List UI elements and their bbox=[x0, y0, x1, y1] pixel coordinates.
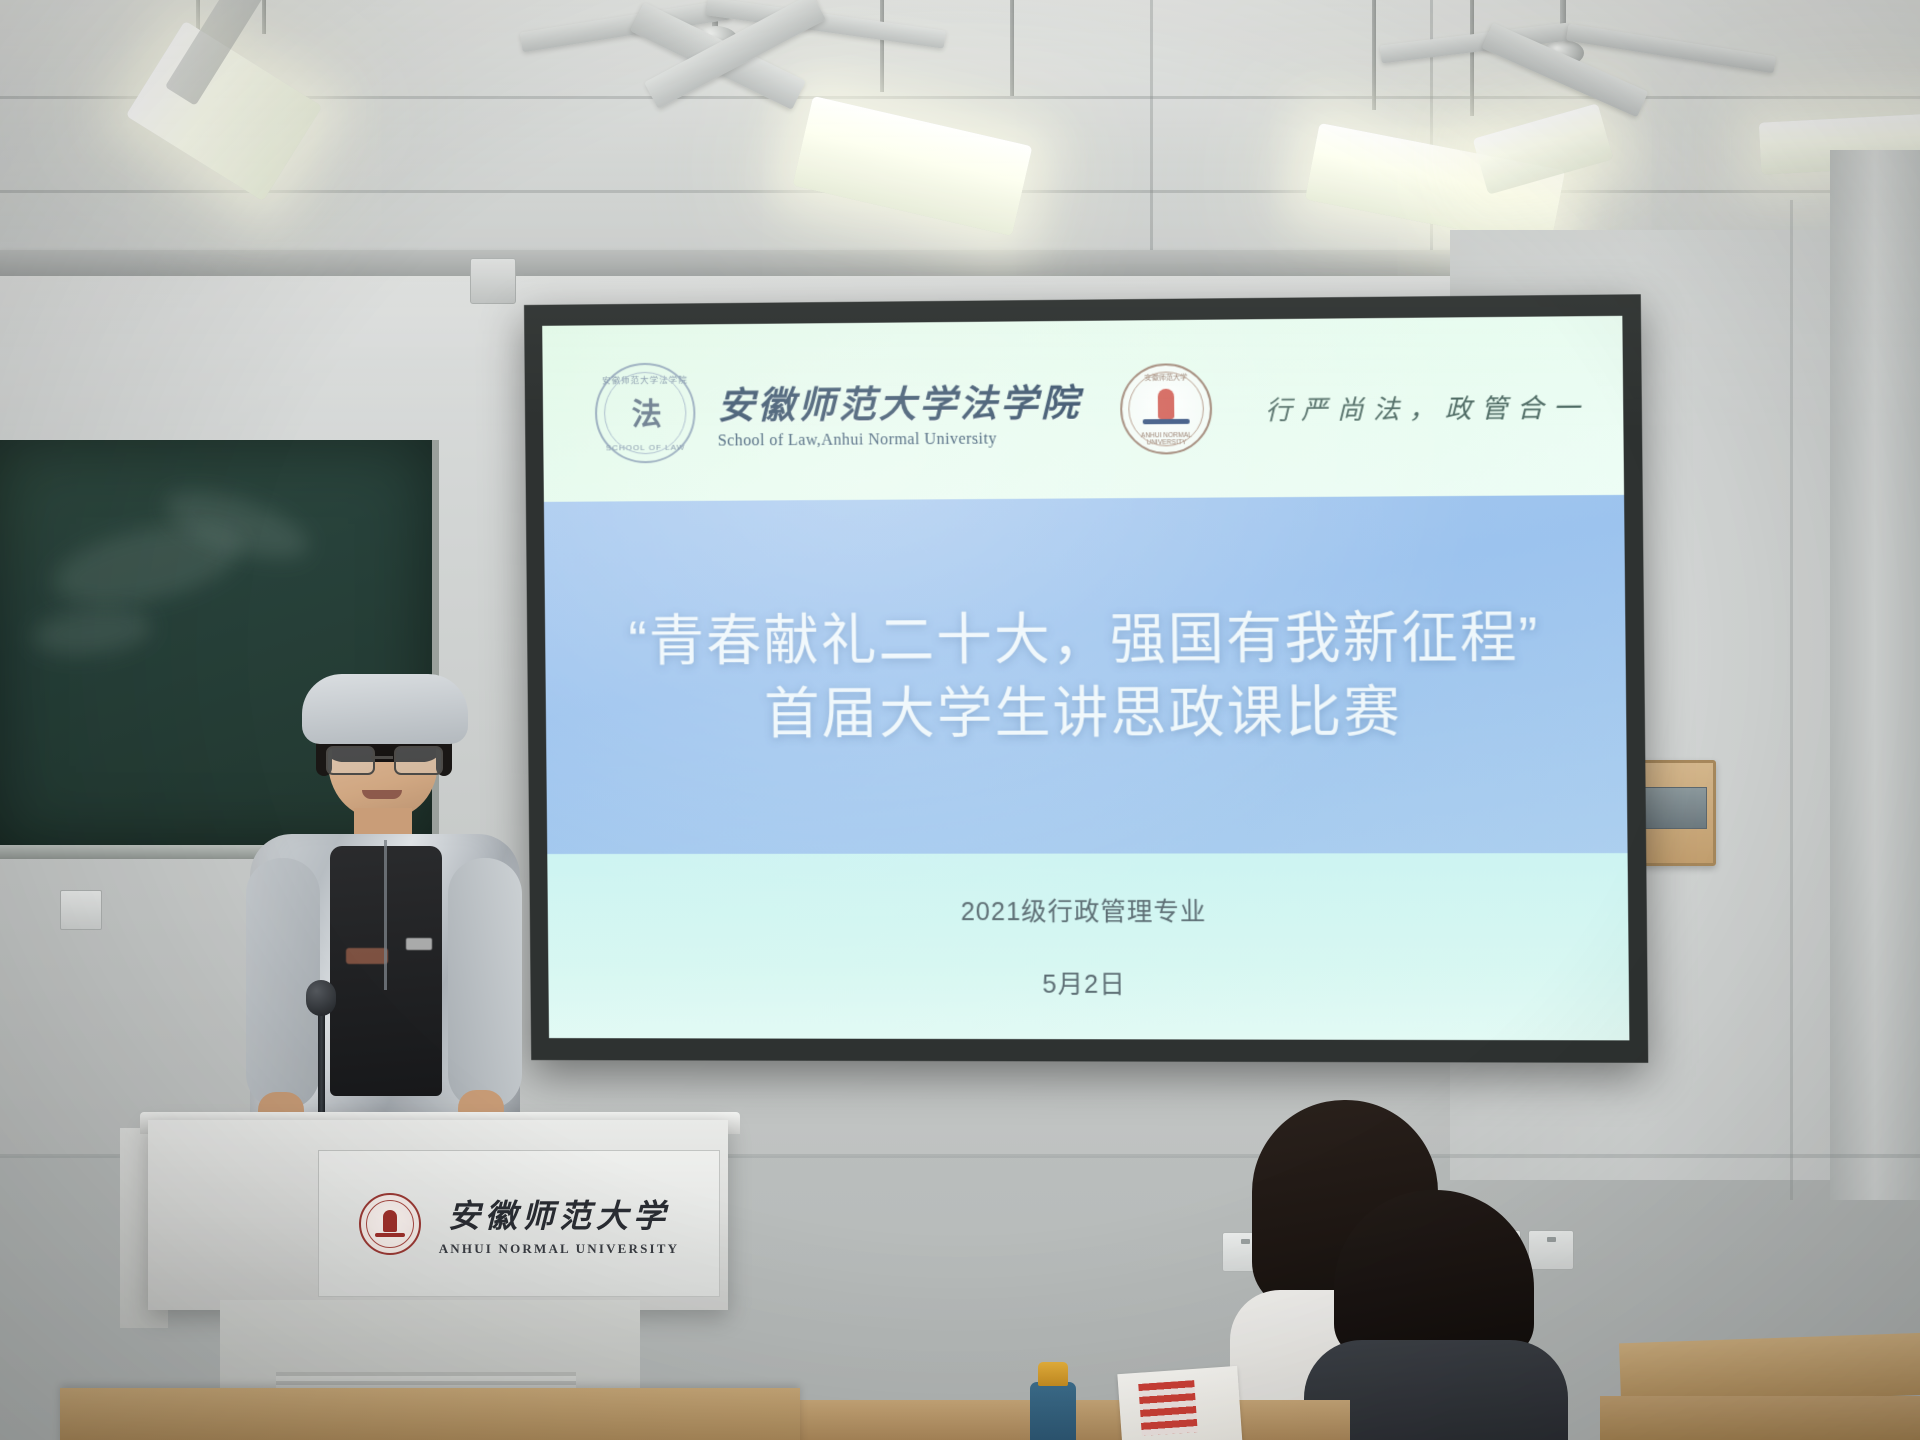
school-name-cn: 安徽师范大学法学院 bbox=[717, 372, 1082, 429]
podium-university-en: ANHUI NORMAL UNIVERSITY bbox=[439, 1241, 680, 1257]
podium-front-panel: 安徽师范大学 ANHUI NORMAL UNIVERSITY bbox=[318, 1150, 720, 1297]
microphone-icon bbox=[306, 980, 336, 1016]
glasses-lens bbox=[394, 746, 443, 775]
projection-screen-frame: 安徽师范大学法学院 法 SCHOOL OF LAW 安徽师范大学法学院 Scho… bbox=[524, 294, 1648, 1063]
law-school-seal-icon: 安徽师范大学法学院 法 SCHOOL OF LAW bbox=[595, 363, 696, 464]
seal-center-glyph: 法 bbox=[632, 400, 659, 430]
presenter-mouth bbox=[362, 790, 402, 799]
jacket-zipper bbox=[384, 840, 387, 990]
school-name-block: 安徽师范大学法学院 School of Law,Anhui Normal Uni… bbox=[717, 372, 1082, 450]
lamp-hanger bbox=[1470, 0, 1474, 116]
lamp-hanger bbox=[1372, 0, 1376, 110]
paper-print bbox=[1138, 1380, 1197, 1436]
wall-speaker bbox=[470, 258, 516, 304]
desk bbox=[60, 1388, 800, 1440]
desk bbox=[1600, 1396, 1920, 1440]
university-seal-figure bbox=[383, 1210, 397, 1232]
university-badge-icon: 安徽师范大学 ANHUI NORMAL UNIVERSITY bbox=[1120, 363, 1213, 455]
student-hair bbox=[1334, 1190, 1534, 1358]
ceiling-seam bbox=[1150, 0, 1153, 276]
badge-top-text: 安徽师范大学 bbox=[1122, 372, 1210, 383]
wall-seam bbox=[1790, 200, 1793, 1200]
seal-ring-top-text: 安徽师范大学法学院 bbox=[597, 374, 693, 387]
podium-university-cn: 安徽师范大学 bbox=[448, 1191, 670, 1237]
badge-bar bbox=[1143, 419, 1190, 424]
slide-title-line1: “青春献礼二十大，强国有我新征程” bbox=[628, 603, 1540, 675]
podium-text-block: 安徽师范大学 ANHUI NORMAL UNIVERSITY bbox=[439, 1191, 680, 1257]
school-name-en: School of Law,Anhui Normal University bbox=[718, 429, 1082, 450]
presenter bbox=[250, 690, 520, 1140]
seal-ring-bottom-text: SCHOOL OF LAW bbox=[597, 443, 693, 453]
lamp-hanger bbox=[1010, 0, 1014, 96]
slide-footer: 2021级行政管理专业 5月2日 bbox=[547, 853, 1629, 1040]
glasses-bridge bbox=[371, 756, 393, 759]
badge-bottom-text: ANHUI NORMAL UNIVERSITY bbox=[1122, 432, 1210, 447]
presentation-slide: 安徽师范大学法学院 法 SCHOOL OF LAW 安徽师范大学法学院 Scho… bbox=[542, 316, 1629, 1041]
university-seal-icon bbox=[359, 1193, 421, 1255]
water-bottle[interactable] bbox=[1030, 1382, 1076, 1440]
slide-title-band: “青春献礼二十大，强国有我新征程” 首届大学生讲思政课比赛 bbox=[544, 495, 1628, 854]
shirt-graphic bbox=[406, 938, 432, 950]
jacket-hood bbox=[302, 674, 468, 744]
slide-date-text: 5月2日 bbox=[1042, 965, 1126, 1001]
presenter-arm-right bbox=[448, 858, 522, 1110]
wall-column bbox=[1830, 150, 1920, 1200]
slide-header: 安徽师范大学法学院 法 SCHOOL OF LAW 安徽师范大学法学院 Scho… bbox=[542, 316, 1624, 502]
wall-fitting bbox=[60, 890, 102, 930]
lamp-hanger bbox=[880, 0, 884, 92]
slide-major-text: 2021级行政管理专业 bbox=[961, 892, 1207, 928]
projection-screen[interactable]: 安徽师范大学法学院 法 SCHOOL OF LAW 安徽师范大学法学院 Scho… bbox=[542, 316, 1629, 1041]
bottle-cap[interactable] bbox=[1038, 1362, 1068, 1386]
badge-figure bbox=[1158, 389, 1175, 419]
school-motto: 行严尚法，政管合一 bbox=[1265, 387, 1589, 427]
classroom-photo: 安徽师范大学法学院 法 SCHOOL OF LAW 安徽师范大学法学院 Scho… bbox=[0, 0, 1920, 1440]
lamp-hanger bbox=[262, 0, 266, 34]
glasses-icon bbox=[326, 746, 442, 771]
desk bbox=[1619, 1333, 1920, 1406]
university-seal-base bbox=[375, 1233, 405, 1237]
shirt-graphic bbox=[346, 948, 388, 964]
glasses-lens bbox=[326, 746, 375, 775]
slide-title-line2: 首届大学生讲思政课比赛 bbox=[764, 678, 1402, 748]
